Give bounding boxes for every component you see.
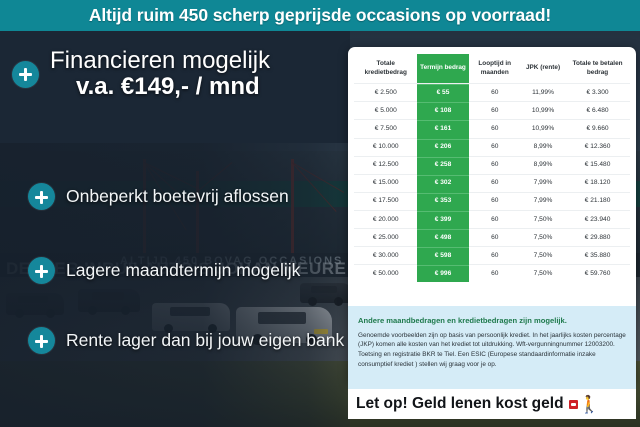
cell-jpk: 7,50% bbox=[521, 265, 565, 283]
cell-totaal: € 6.480 bbox=[565, 102, 630, 120]
feature-list: Financieren mogelijk v.a. €149,- / mnd O… bbox=[0, 31, 350, 427]
disclaimer-title: Andere maandbedragen en kredietbedragen … bbox=[358, 316, 626, 326]
table-row: € 2.500€ 556011,99%€ 3.300 bbox=[354, 84, 630, 102]
cell-looptijd: 60 bbox=[469, 247, 521, 265]
cell-jpk: 10,99% bbox=[521, 120, 565, 138]
plus-circle-icon bbox=[28, 327, 55, 354]
cell-jpk: 7,99% bbox=[521, 174, 565, 192]
cell-jpk: 8,99% bbox=[521, 156, 565, 174]
cell-termijn-bedrag: € 258 bbox=[417, 156, 468, 174]
advertisement-banner: Altijd ruim 450 scherp geprijsde occasio… bbox=[0, 0, 640, 427]
hero-headline-line1: Financieren mogelijk bbox=[50, 48, 270, 74]
table-row: € 10.000€ 206608,99%€ 12.360 bbox=[354, 138, 630, 156]
cell-totaal: € 29.880 bbox=[565, 229, 630, 247]
cell-looptijd: 60 bbox=[469, 229, 521, 247]
cell-kredietbedrag: € 17.500 bbox=[354, 192, 417, 210]
cell-looptijd: 60 bbox=[469, 84, 521, 102]
cell-looptijd: 60 bbox=[469, 120, 521, 138]
table-row: € 25.000€ 498607,50%€ 29.880 bbox=[354, 229, 630, 247]
cell-jpk: 7,99% bbox=[521, 192, 565, 210]
headline-text: Altijd ruim 450 scherp geprijsde occasio… bbox=[89, 5, 551, 26]
cell-kredietbedrag: € 25.000 bbox=[354, 229, 417, 247]
table-row: € 5.000€ 1086010,99%€ 6.480 bbox=[354, 102, 630, 120]
table-header-row: Totale kredietbedrag Termijn bedrag Loop… bbox=[354, 54, 630, 84]
cell-termijn-bedrag: € 353 bbox=[417, 192, 468, 210]
column-header-termijn-bedrag: Termijn bedrag bbox=[417, 54, 468, 84]
table-row: € 7.500€ 1616010,99%€ 9.660 bbox=[354, 120, 630, 138]
feature-item-maandtermijn: Lagere maandtermijn mogelijk bbox=[28, 257, 300, 284]
cell-termijn-bedrag: € 206 bbox=[417, 138, 468, 156]
column-header-totale-te-betalen: Totale te betalen bedrag bbox=[565, 54, 630, 84]
cell-looptijd: 60 bbox=[469, 192, 521, 210]
table-row: € 50.000€ 996607,50%€ 59.760 bbox=[354, 265, 630, 283]
cell-totaal: € 21.180 bbox=[565, 192, 630, 210]
cell-jpk: 11,99% bbox=[521, 84, 565, 102]
plus-circle-icon bbox=[28, 257, 55, 284]
cell-termijn-bedrag: € 996 bbox=[417, 265, 468, 283]
feature-item-rente: Rente lager dan bij jouw eigen bank bbox=[28, 327, 344, 354]
disclaimer-body: Genoemde voorbeelden zijn op basis van p… bbox=[358, 331, 626, 369]
table-row: € 12.500€ 258608,99%€ 15.480 bbox=[354, 156, 630, 174]
cell-termijn-bedrag: € 161 bbox=[417, 120, 468, 138]
walking-person-icon: 🚶 bbox=[579, 396, 600, 413]
cell-looptijd: 60 bbox=[469, 156, 521, 174]
cell-looptijd: 60 bbox=[469, 265, 521, 283]
table-row: € 15.000€ 302607,99%€ 18.120 bbox=[354, 174, 630, 192]
cell-kredietbedrag: € 50.000 bbox=[354, 265, 417, 283]
feature-label: Rente lager dan bij jouw eigen bank bbox=[66, 330, 344, 350]
cell-jpk: 7,50% bbox=[521, 210, 565, 228]
cell-looptijd: 60 bbox=[469, 102, 521, 120]
cell-totaal: € 3.300 bbox=[565, 84, 630, 102]
cell-termijn-bedrag: € 598 bbox=[417, 247, 468, 265]
cell-kredietbedrag: € 5.000 bbox=[354, 102, 417, 120]
cell-kredietbedrag: € 2.500 bbox=[354, 84, 417, 102]
cell-totaal: € 23.940 bbox=[565, 210, 630, 228]
cell-totaal: € 18.120 bbox=[565, 174, 630, 192]
cell-termijn-bedrag: € 498 bbox=[417, 229, 468, 247]
credit-warning-text: Let op! Geld lenen kost geld bbox=[356, 395, 564, 413]
hero-headline-line2: v.a. €149,- / mnd bbox=[76, 74, 270, 101]
cell-looptijd: 60 bbox=[469, 174, 521, 192]
cell-totaal: € 15.480 bbox=[565, 156, 630, 174]
cell-kredietbedrag: € 20.000 bbox=[354, 210, 417, 228]
cell-jpk: 10,99% bbox=[521, 102, 565, 120]
plus-circle-icon bbox=[28, 183, 55, 210]
cell-kredietbedrag: € 12.500 bbox=[354, 156, 417, 174]
cell-totaal: € 35.880 bbox=[565, 247, 630, 265]
table-row: € 30.000€ 598607,50%€ 35.880 bbox=[354, 247, 630, 265]
cell-looptijd: 60 bbox=[469, 210, 521, 228]
disclaimer-block: Andere maandbedragen en kredietbedragen … bbox=[348, 306, 636, 395]
cell-jpk: 8,99% bbox=[521, 138, 565, 156]
cell-termijn-bedrag: € 399 bbox=[417, 210, 468, 228]
cell-kredietbedrag: € 10.000 bbox=[354, 138, 417, 156]
loan-rate-table: Totale kredietbedrag Termijn bedrag Loop… bbox=[354, 54, 630, 282]
plus-circle-icon bbox=[12, 61, 39, 88]
top-headline-bar: Altijd ruim 450 scherp geprijsde occasio… bbox=[0, 0, 640, 31]
feature-label: Lagere maandtermijn mogelijk bbox=[66, 260, 300, 280]
feature-label: Onbeperkt boetevrij aflossen bbox=[66, 186, 289, 206]
feature-item-aflossen: Onbeperkt boetevrij aflossen bbox=[28, 183, 289, 210]
column-header-jpk: JPK (rente) bbox=[521, 54, 565, 84]
cell-totaal: € 12.360 bbox=[565, 138, 630, 156]
table-row: € 17.500€ 353607,99%€ 21.180 bbox=[354, 192, 630, 210]
cell-jpk: 7,50% bbox=[521, 229, 565, 247]
table-row: € 20.000€ 399607,50%€ 23.940 bbox=[354, 210, 630, 228]
cell-kredietbedrag: € 7.500 bbox=[354, 120, 417, 138]
cell-termijn-bedrag: € 108 bbox=[417, 102, 468, 120]
cell-looptijd: 60 bbox=[469, 138, 521, 156]
cell-totaal: € 59.760 bbox=[565, 265, 630, 283]
cell-kredietbedrag: € 30.000 bbox=[354, 247, 417, 265]
credit-warning-bar: Let op! Geld lenen kost geld 🚶 bbox=[348, 389, 636, 419]
cell-jpk: 7,50% bbox=[521, 247, 565, 265]
column-header-totale-kredietbedrag: Totale kredietbedrag bbox=[354, 54, 417, 84]
feature-item-financing: Financieren mogelijk v.a. €149,- / mnd bbox=[12, 48, 270, 101]
cell-termijn-bedrag: € 302 bbox=[417, 174, 468, 192]
warning-icons: 🚶 bbox=[569, 396, 600, 413]
column-header-looptijd: Looptijd in maanden bbox=[469, 54, 521, 84]
cell-kredietbedrag: € 15.000 bbox=[354, 174, 417, 192]
afm-logo-icon bbox=[569, 400, 578, 409]
cell-termijn-bedrag: € 55 bbox=[417, 84, 468, 102]
cell-totaal: € 9.660 bbox=[565, 120, 630, 138]
